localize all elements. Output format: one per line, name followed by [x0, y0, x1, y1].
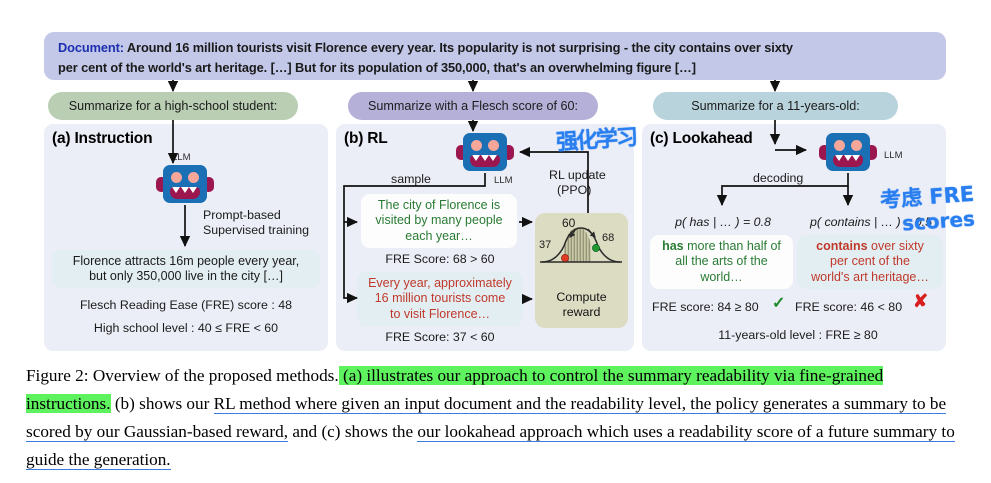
panel-a-summary-bubble: Florence attracts 16m people every year,… — [52, 250, 320, 288]
caption-seg-5-underlined: scored by our Gaussian-based reward, — [26, 422, 288, 442]
document-line-2: per cent of the world's art heritage. […… — [58, 58, 932, 78]
document-line-1: Document: Around 16 million tourists vis… — [58, 38, 932, 58]
document-label: Document: — [58, 40, 124, 55]
panel-a-fre-score: Flesch Reading Ease (FRE) score : 48 — [52, 298, 320, 313]
figure-caption: Figure 2: Overview of the proposed metho… — [26, 362, 966, 474]
document-banner: Document: Around 16 million tourists vis… — [44, 32, 946, 80]
llm-robot-icon-a — [155, 165, 215, 205]
panel-c-right-line-2: per cent of the — [830, 254, 910, 270]
panel-c-right-score: FRE score: 46 < 80 — [795, 300, 902, 315]
compute-reward-label-2: reward — [535, 305, 628, 320]
panel-c-title: (c) Lookahead — [650, 130, 752, 148]
llm-label-b: LLM — [494, 175, 512, 186]
panel-c-left-bubble: has more than half of all the arts of th… — [650, 235, 793, 289]
caption-seg-1: Figure 2: Overview of the proposed metho… — [26, 366, 339, 385]
panel-c-left-line-2: all the arts of the — [675, 254, 767, 270]
instruction-pill-high-school: Summarize for a high-school student: — [48, 92, 298, 120]
panel-b-bad-score: FRE Score: 37 < 60 — [355, 330, 525, 345]
gauss-low-label: 37 — [539, 238, 551, 253]
caption-seg-6: and (c) shows the — [288, 422, 417, 441]
gaussian-reward-plot — [540, 218, 624, 274]
panel-b-bad-line-2: 16 million tourists come — [375, 291, 506, 307]
panel-b-good-line-2: visited by many people — [375, 213, 502, 229]
caption-seg-3: (b) shows our — [111, 394, 214, 413]
panel-c-right-bold: contains — [816, 239, 867, 253]
handwritten-scores: scores — [901, 206, 975, 235]
handwritten-reinforcement-learning: 强化学习 — [555, 119, 637, 157]
panel-c-left-line-3: world… — [700, 270, 742, 286]
panel-b-title: (b) RL — [344, 130, 388, 148]
panel-c-right-rest: over sixty — [868, 239, 924, 253]
llm-robot-icon-b — [455, 133, 515, 173]
panel-c-left-rest: more than half of — [684, 239, 781, 253]
panel-a-arrow-label-1: Prompt-based — [203, 208, 281, 223]
panel-b-good-line-3: each year… — [405, 229, 472, 245]
panel-a-level: High school level : 40 ≤ FRE < 60 — [52, 321, 320, 336]
panel-c-left-score: FRE score: 84 ≥ 80 — [652, 300, 759, 315]
instruction-pill-11-years-old: Summarize for a 11-years-old: — [653, 92, 898, 120]
caption-seg-4-underlined: RL method where given an input document … — [214, 394, 946, 414]
panel-c-right-line-3: world's art heritage… — [811, 270, 929, 286]
panel-a-arrow-label-2: Supervised training — [203, 223, 309, 238]
panel-b-bad-line-3: to visit Florence… — [390, 307, 490, 323]
panel-b-update-label-2: (PPO) — [557, 183, 591, 198]
panel-c-level: 11-years-old level : FRE ≥ 80 — [650, 328, 946, 343]
gauss-high-label: 68 — [602, 231, 614, 246]
instruction-pill-flesch-60: Summarize with a Flesch score of 60: — [348, 92, 598, 120]
llm-robot-icon-c — [818, 133, 878, 173]
panel-c-right-bubble: contains over sixty per cent of the worl… — [797, 235, 943, 289]
panel-a-summary-line-1: Florence attracts 16m people every year, — [73, 254, 300, 270]
panel-b-bad-line-1: Every year, approximately — [368, 276, 512, 292]
panel-b-good-score: FRE Score: 68 > 60 — [355, 252, 525, 267]
panel-a-summary-line-2: but only 350,000 live in the city […] — [89, 269, 283, 285]
panel-a-title: (a) Instruction — [52, 130, 152, 148]
figure-overview: Document: Around 16 million tourists vis… — [0, 0, 991, 483]
panel-c-decoding-label: decoding — [753, 171, 803, 186]
panel-b-update-label-1: RL update — [549, 168, 606, 183]
compute-reward-label-1: Compute — [535, 290, 628, 305]
gauss-target-label: 60 — [562, 216, 575, 231]
document-text-1: Around 16 million tourists visit Florenc… — [124, 40, 793, 55]
panel-b-good-summary-bubble: The city of Florence is visited by many … — [361, 194, 517, 248]
check-icon: ✓ — [772, 296, 785, 311]
cross-icon: ✘ — [913, 294, 928, 309]
panel-c-prob-left: p( has | … ) = 0.8 — [650, 215, 796, 230]
panel-c-left-bold: has — [662, 239, 684, 253]
panel-b-bad-summary-bubble: Every year, approximately 16 million tou… — [357, 272, 523, 326]
panel-c-left-line-1: has more than half of — [662, 239, 781, 255]
panel-b-good-line-1: The city of Florence is — [378, 198, 500, 214]
llm-label-a: LLM — [172, 152, 190, 163]
panel-c-right-line-1: contains over sixty — [816, 239, 924, 255]
llm-label-c: LLM — [884, 150, 902, 161]
panel-b-sample-label: sample — [391, 172, 431, 187]
